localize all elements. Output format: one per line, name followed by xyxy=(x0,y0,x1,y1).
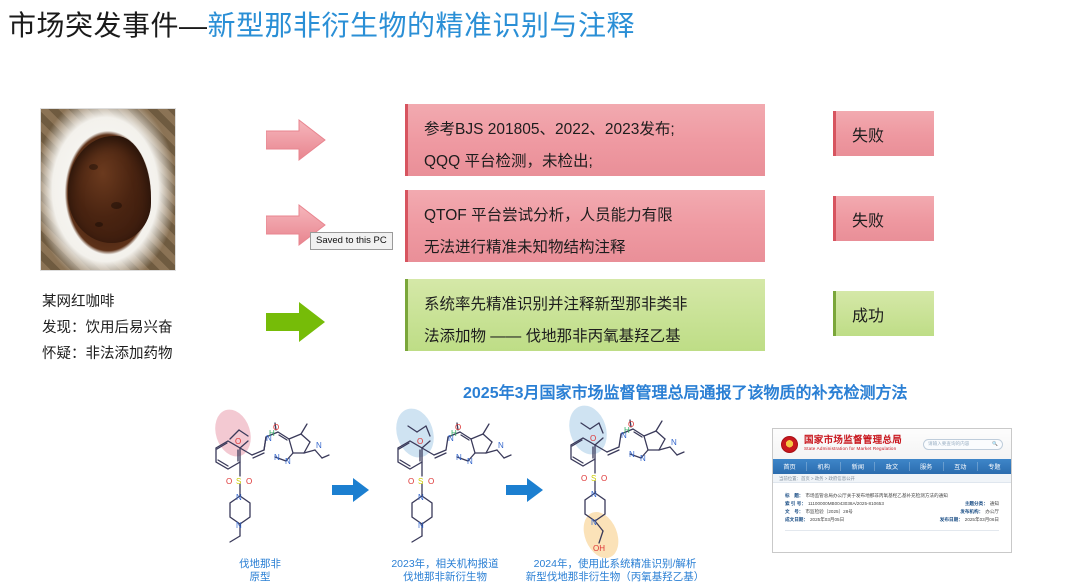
svg-text:O: O xyxy=(226,477,232,486)
doc-meta-value: 市场监管总局办公厅关于发布地那非丙氧基羟乙基补充检测方法的通知 xyxy=(805,492,947,500)
caption-line: 2024年，使用此系统精准识别/解析 xyxy=(490,558,740,571)
doc-meta-value: 市监检验〔2025〕28号 xyxy=(805,508,853,516)
page-title-blue: 新型那非衍生物的精准识别与注释 xyxy=(208,10,636,41)
nav-item-home[interactable]: 首页 xyxy=(773,462,807,471)
statement-line: 无法进行精准未知物结构注释 xyxy=(424,232,751,264)
doc-meta-key2: 发布日期： xyxy=(940,516,963,524)
svg-text:N: N xyxy=(498,441,504,450)
svg-text:N: N xyxy=(591,490,597,499)
site-search-placeholder: 请输入要查询的内容 xyxy=(928,441,969,447)
doc-meta-value: 2025年03月05日 xyxy=(810,516,844,524)
slide-root: 市场突发事件—新型那非衍生物的精准识别与注释 某网红咖啡 发现：饮用后易兴奋 怀… xyxy=(0,0,1080,587)
samr-website-screenshot: 国家市场监督管理总局 State Administration for Mark… xyxy=(772,428,1012,553)
svg-text:N: N xyxy=(316,441,322,450)
search-icon[interactable]: 🔍 xyxy=(992,441,998,447)
molecule-caption-1: 伐地那非 原型 xyxy=(190,558,330,584)
statement-line: QTOF 平台尝试分析，人员能力有限 xyxy=(424,200,751,232)
nav-item-org[interactable]: 机构 xyxy=(807,462,841,471)
statement-box-1: 参考BJS 201805、2022、2023发布; QQQ 平台检测，未检出; xyxy=(405,104,765,176)
svg-text:S: S xyxy=(591,474,596,483)
blue-arrow-1 xyxy=(332,478,370,507)
svg-text:N: N xyxy=(621,431,627,440)
site-doc-meta: 标 题： 市场监管总局办公厅关于发布地那非丙氧基羟乙基补充检测方法的通知 索 引… xyxy=(773,483,1011,531)
doc-meta-value2: 通知 xyxy=(990,500,999,508)
coffee-speck xyxy=(95,222,103,227)
regulation-notice-subtitle: 2025年3月国家市场监督管理总局通报了该物质的补充检测方法 xyxy=(463,379,908,403)
svg-text:O: O xyxy=(581,474,587,483)
svg-text:N: N xyxy=(591,518,597,527)
svg-text:N: N xyxy=(448,434,454,443)
caption-line: 新型伐地那非衍生物（丙氧基羟乙基） xyxy=(490,571,740,584)
svg-text:N: N xyxy=(467,457,473,466)
sample-caption-line-1: 某网红咖啡 xyxy=(42,290,115,311)
result-badge-2: 失败 xyxy=(833,196,934,241)
caption-line: 原型 xyxy=(190,571,330,584)
site-breadcrumb: 当前位置：首页 > 政务 > 政府信息公开 xyxy=(773,474,1011,483)
doc-meta-value2: 办公厅 xyxy=(985,508,999,516)
svg-text:S: S xyxy=(418,477,423,486)
svg-text:O: O xyxy=(408,477,414,486)
coffee-speck xyxy=(89,164,98,170)
doc-meta-row: 成文日期： 2025年03月05日 发布日期：2025年03月06日 xyxy=(785,516,999,524)
svg-text:N: N xyxy=(274,453,280,462)
site-org-cn: 国家市场监督管理总局 xyxy=(804,436,902,446)
doc-meta-key: 索 引 号： xyxy=(785,500,806,508)
caption-line: 伐地那非 xyxy=(190,558,330,571)
molecule-vardenafil-derivative-2023: O O H N N N N S O O N N xyxy=(372,408,512,563)
national-emblem-icon xyxy=(781,436,798,453)
statement-line: QQQ 平台检测，未检出; xyxy=(424,146,751,178)
molecule-vardenafil-propoxy-hydroxyethyl-2024: O O H N N N N S O O N N OH xyxy=(545,405,685,565)
svg-text:O: O xyxy=(601,474,607,483)
statement-line: 法添加物 —— 伐地那非丙氧基羟乙基 xyxy=(424,321,751,353)
doc-meta-value: 11100000MB0043038A/2025-810653 xyxy=(808,500,884,508)
coffee-sample-photo xyxy=(40,108,176,271)
site-org-titles: 国家市场监督管理总局 State Administration for Mark… xyxy=(804,436,902,452)
statement-line: 系统率先精准识别并注释新型那非类非 xyxy=(424,289,751,321)
site-nav[interactable]: 首页 机构 新闻 政文 服务 互动 专题 xyxy=(773,459,1011,474)
statement-box-2: QTOF 平台尝试分析，人员能力有限 无法进行精准未知物结构注释 xyxy=(405,190,765,262)
result-badge-3: 成功 xyxy=(833,291,934,336)
nav-item-topic[interactable]: 专题 xyxy=(978,462,1011,471)
molecule-caption-3: 2024年，使用此系统精准识别/解析 新型伐地那非衍生物（丙氧基羟乙基） xyxy=(490,558,740,584)
nav-item-interact[interactable]: 互动 xyxy=(944,462,978,471)
page-title: 市场突发事件—新型那非衍生物的精准识别与注释 xyxy=(8,6,635,46)
svg-text:OH: OH xyxy=(593,544,605,553)
doc-meta-row: 索 引 号： 11100000MB0043038A/2025-810653 主题… xyxy=(785,500,999,508)
sample-caption-line-3: 怀疑：非法添加药物 xyxy=(42,342,173,363)
svg-text:O: O xyxy=(590,434,596,443)
blue-arrow-2 xyxy=(506,478,544,507)
nav-item-policy[interactable]: 政文 xyxy=(875,462,909,471)
pink-arrow-1 xyxy=(266,118,326,162)
doc-meta-key: 成文日期： xyxy=(785,516,808,524)
svg-text:N: N xyxy=(640,454,646,463)
site-header: 国家市场监督管理总局 State Administration for Mark… xyxy=(773,429,1011,459)
svg-text:N: N xyxy=(456,453,462,462)
doc-meta-key: 文 号： xyxy=(785,508,803,516)
doc-meta-row: 文 号： 市监检验〔2025〕28号 发布机构：办公厅 xyxy=(785,508,999,516)
site-search-input[interactable]: 请输入要查询的内容 🔍 xyxy=(923,439,1003,450)
doc-meta-row: 标 题： 市场监管总局办公厅关于发布地那非丙氧基羟乙基补充检测方法的通知 xyxy=(785,492,999,500)
coffee-grounds xyxy=(68,136,151,242)
page-title-black: 市场突发事件— xyxy=(8,10,208,41)
svg-text:N: N xyxy=(266,434,272,443)
sample-caption-line-2: 发现：饮用后易兴奋 xyxy=(42,316,173,337)
svg-text:N: N xyxy=(629,450,635,459)
saved-to-this-pc-tooltip: Saved to this PC xyxy=(310,232,393,250)
statement-box-3: 系统率先精准识别并注释新型那非类非 法添加物 —— 伐地那非丙氧基羟乙基 xyxy=(405,279,765,351)
svg-text:N: N xyxy=(671,438,677,447)
green-arrow-3 xyxy=(266,300,326,344)
site-org-en: State Administration for Market Regulati… xyxy=(804,447,902,452)
svg-text:N: N xyxy=(418,493,424,502)
svg-text:O: O xyxy=(417,437,423,446)
result-badge-1: 失败 xyxy=(833,111,934,156)
svg-text:O: O xyxy=(246,477,252,486)
svg-text:N: N xyxy=(236,521,242,530)
doc-meta-value2: 2025年03月06日 xyxy=(965,516,999,524)
svg-text:N: N xyxy=(418,521,424,530)
doc-meta-key2: 主题分类： xyxy=(965,500,988,508)
nav-item-news[interactable]: 新闻 xyxy=(841,462,875,471)
nav-item-service[interactable]: 服务 xyxy=(910,462,944,471)
svg-text:O: O xyxy=(235,437,241,446)
doc-meta-key2: 发布机构： xyxy=(960,508,983,516)
svg-text:N: N xyxy=(236,493,242,502)
molecule-vardenafil-prototype: O O H N N N N S O O N N xyxy=(190,408,330,563)
svg-text:O: O xyxy=(428,477,434,486)
svg-text:S: S xyxy=(236,477,241,486)
svg-text:N: N xyxy=(285,457,291,466)
divider xyxy=(785,530,999,531)
doc-meta-key: 标 题： xyxy=(785,492,803,500)
statement-line: 参考BJS 201805、2022、2023发布; xyxy=(424,114,751,146)
